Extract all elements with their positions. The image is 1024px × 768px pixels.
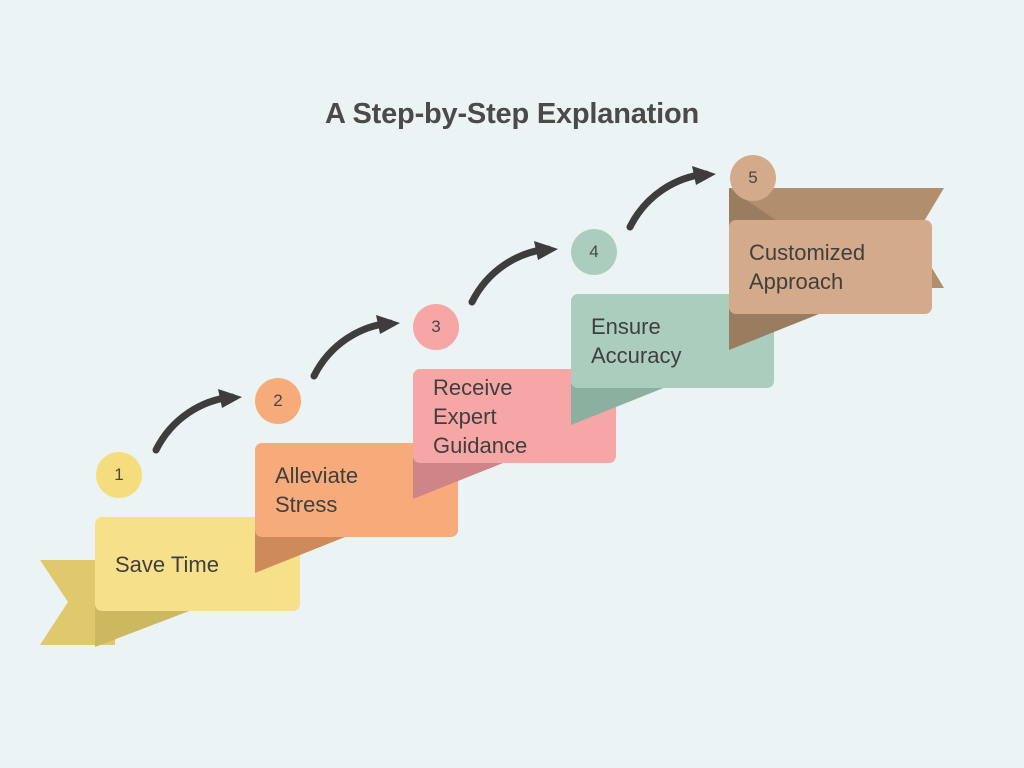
step-5-card[interactable]: Customized Approach	[729, 220, 932, 314]
arrow-step-1-to-2	[150, 388, 250, 456]
arrow-step-3-to-4	[466, 240, 566, 308]
step-1-number: 1	[114, 465, 123, 485]
step-1-label: Save Time	[95, 550, 233, 579]
ribbon-tail-fold	[95, 605, 205, 647]
step-2-badge: 2	[255, 378, 301, 424]
step-2-number: 2	[273, 391, 282, 411]
step-4-badge: 4	[571, 229, 617, 275]
step-4-number: 4	[589, 242, 598, 262]
step-4-label: Ensure Accuracy	[571, 312, 695, 370]
step-5-label: Customized Approach	[729, 238, 879, 296]
infographic-canvas: A Step-by-Step Explanation 1 Save Time 2	[0, 0, 1024, 768]
step-2-label: Alleviate Stress	[255, 461, 372, 519]
step-1-badge: 1	[96, 452, 142, 498]
step-3-tail-fold	[413, 457, 518, 499]
step-5-number: 5	[748, 168, 757, 188]
step-3-label: Receive Expert Guidance	[413, 373, 541, 460]
step-5-badge: 5	[730, 155, 776, 201]
step-3-number: 3	[431, 317, 440, 337]
page-title: A Step-by-Step Explanation	[0, 98, 1024, 131]
step-2-tail-fold	[255, 531, 360, 573]
arrow-step-4-to-5	[624, 165, 724, 233]
step-3-badge: 3	[413, 304, 459, 350]
arrow-step-2-to-3	[308, 314, 408, 382]
step-4-tail-fold	[571, 383, 676, 425]
step-5-tail-fold	[729, 308, 834, 350]
